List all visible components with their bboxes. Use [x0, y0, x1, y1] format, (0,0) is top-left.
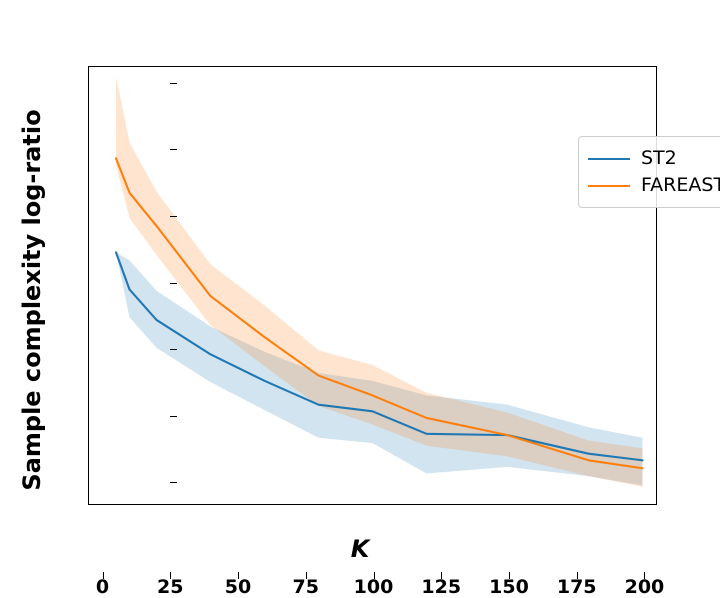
legend-item-fareast[interactable]: FAREAST	[588, 172, 720, 199]
legend-label-st2: ST2	[641, 149, 677, 168]
x-tick-label: 75	[293, 576, 319, 598]
chart-legend[interactable]: ST2 FAREAST	[578, 136, 720, 208]
x-tick-label: 200	[625, 576, 665, 598]
y-tick-mark	[170, 83, 177, 84]
x-axis-label: K	[0, 535, 720, 563]
y-tick-mark	[170, 416, 177, 417]
legend-item-st2[interactable]: ST2	[588, 145, 720, 172]
chart-svg	[89, 67, 656, 504]
legend-swatch-st2	[588, 158, 630, 160]
y-tick-mark	[170, 482, 177, 483]
y-axis-label: Sample complexity log-ratio	[18, 100, 46, 500]
legend-label-fareast: FAREAST	[641, 176, 720, 195]
x-tick-label: 175	[557, 576, 597, 598]
y-tick-mark	[170, 283, 177, 284]
legend-swatch-fareast	[588, 185, 630, 187]
x-tick-label: 125	[421, 576, 461, 598]
x-tick-label: 25	[157, 576, 183, 598]
figure: Sample complexity log-ratio K 2.01.51.00…	[0, 0, 720, 576]
y-tick-mark	[170, 149, 177, 150]
x-tick-label: 100	[354, 576, 394, 598]
plot-area: 2.01.51.00.50.0−0.5−1.002550751001251501…	[88, 66, 657, 505]
x-tick-label: 0	[96, 576, 109, 598]
y-tick-mark	[170, 349, 177, 350]
x-tick-label: 150	[489, 576, 529, 598]
y-tick-mark	[170, 216, 177, 217]
x-tick-label: 50	[225, 576, 251, 598]
